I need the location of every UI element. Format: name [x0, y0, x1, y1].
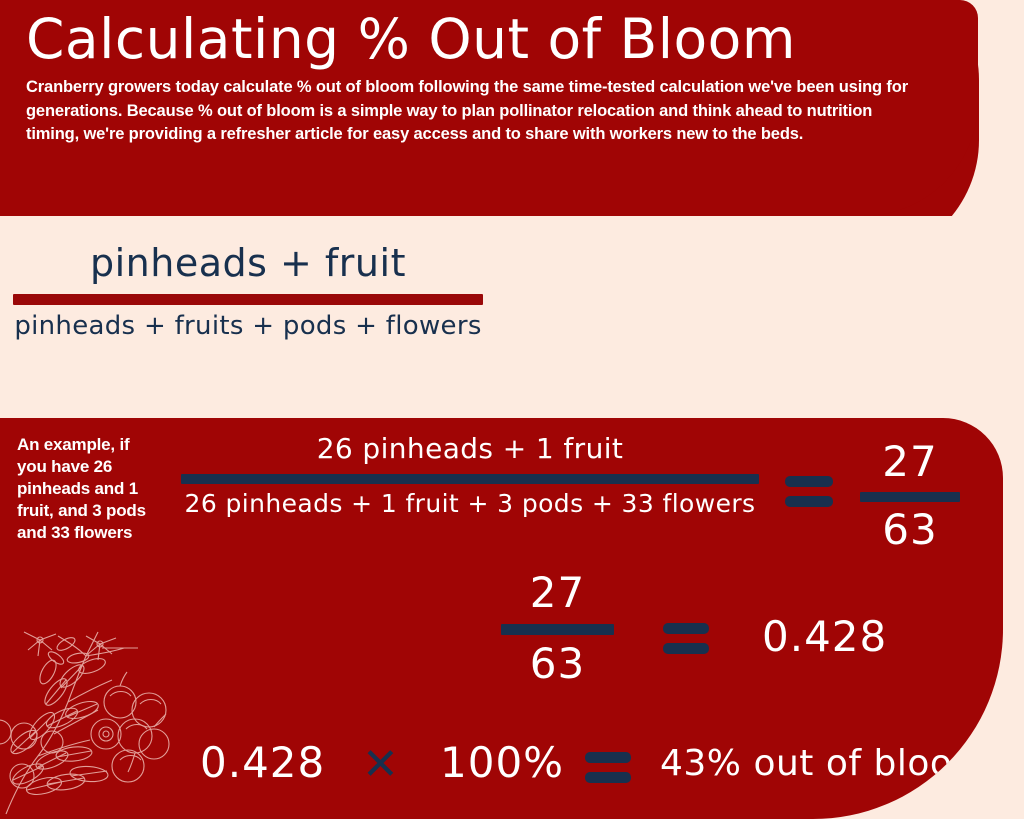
- eq1-denominator: 26 pinheads + 1 fruit + 3 pods + 33 flow…: [160, 486, 780, 522]
- example-section: An example, if you have 26 pinheads and …: [0, 418, 1003, 819]
- example-equation-2-fraction: 27 63: [495, 568, 620, 689]
- example-caption: An example, if you have 26 pinheads and …: [17, 434, 157, 544]
- formula-fraction-bar: [13, 294, 483, 305]
- header-intro-paragraph: Cranberry growers today calculate % out …: [26, 76, 918, 147]
- example-equation-1-result-fraction: 27 63: [855, 438, 965, 554]
- eq1-result-numerator: 27: [855, 438, 965, 486]
- eq2-numerator: 27: [495, 568, 620, 618]
- eq1-result-denominator: 63: [855, 506, 965, 554]
- header-banner: Calculating % Out of Bloom Cranberry gro…: [0, 0, 978, 216]
- page-title: Calculating % Out of Bloom: [26, 8, 918, 70]
- example-equation-2-result: 0.428: [762, 612, 887, 662]
- formula-section: pinheads + fruit pinheads + fruits + pod…: [0, 216, 1024, 418]
- header-content: Calculating % Out of Bloom Cranberry gro…: [26, 8, 918, 147]
- formula-fraction: pinheads + fruit pinheads + fruits + pod…: [13, 240, 483, 343]
- eq1-result-fraction-bar: [860, 492, 960, 502]
- formula-denominator: pinheads + fruits + pods + flowers: [13, 309, 483, 343]
- eq2-fraction-bar: [501, 624, 614, 635]
- example-equation-1-fraction: 26 pinheads + 1 fruit 26 pinheads + 1 fr…: [160, 430, 780, 522]
- eq3-operand-b: 100%: [440, 738, 564, 788]
- eq1-numerator: 26 pinheads + 1 fruit: [160, 430, 780, 468]
- eq3-result: 43% out of bloom: [660, 741, 988, 787]
- eq2-equals-icon: [663, 623, 709, 663]
- formula-equation: pinheads + fruit pinheads + fruits + pod…: [0, 216, 1024, 418]
- formula-numerator: pinheads + fruit: [13, 240, 483, 286]
- cranberry-branch-illustration: [0, 614, 179, 819]
- eq3-equals-icon: [585, 752, 631, 792]
- eq1-equals-icon: [785, 476, 833, 516]
- eq1-fraction-bar: [181, 474, 759, 484]
- eq3-multiply-icon: ✕: [362, 741, 399, 789]
- eq2-denominator: 63: [495, 639, 620, 689]
- eq3-operand-a: 0.428: [200, 738, 325, 788]
